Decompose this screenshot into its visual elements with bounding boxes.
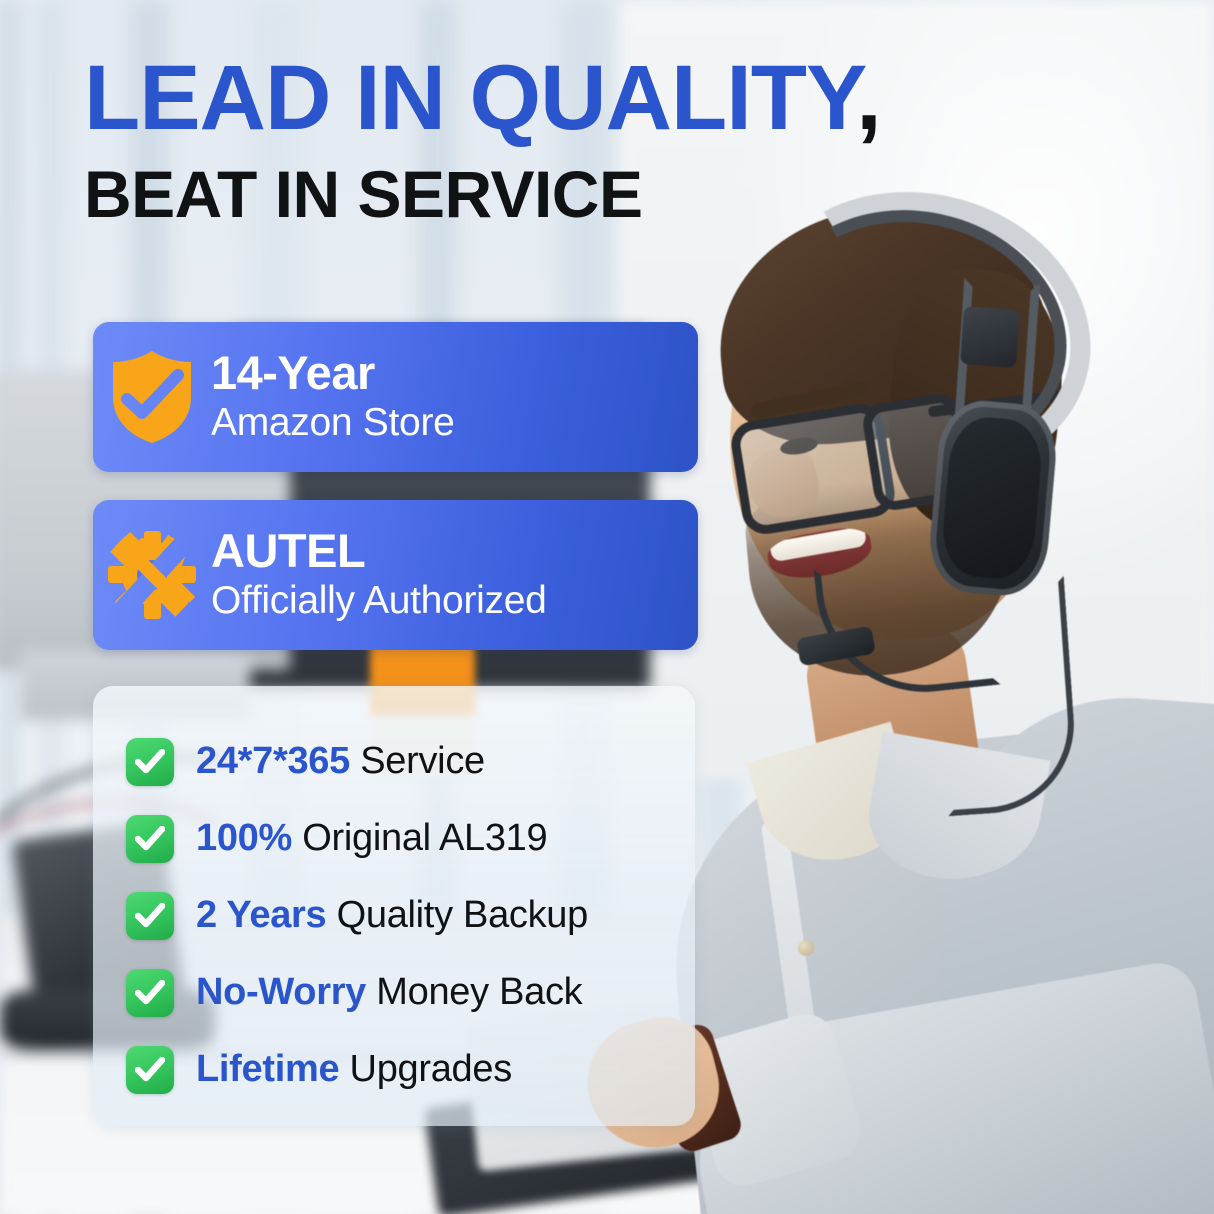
shield-check-icon xyxy=(93,349,211,445)
benefit-highlight: 24*7*365 xyxy=(196,740,350,782)
benefit-item: 100% Original AL319 xyxy=(126,807,695,871)
badge-subtitle: Amazon Store xyxy=(211,402,686,445)
benefit-rest: Upgrades xyxy=(339,1048,512,1090)
badge-card-autel-authorized[interactable]: AUTEL Officially Authorized xyxy=(93,500,698,650)
benefit-label: 100% Original AL319 xyxy=(196,818,547,860)
benefit-item: 2 Years Quality Backup xyxy=(126,884,695,948)
badge-title: 14-Year xyxy=(211,349,686,398)
badge-card-list: 14-Year Amazon Store xyxy=(93,322,698,650)
green-check-icon xyxy=(126,969,174,1017)
headline-line-2: BEAT IN SERVICE xyxy=(84,160,1174,229)
support-agent-photo xyxy=(640,180,1214,1214)
badge-subtitle: Officially Authorized xyxy=(211,580,686,623)
green-check-icon xyxy=(126,1046,174,1094)
benefit-label: No-Worry Money Back xyxy=(196,972,582,1014)
benefit-rest: Service xyxy=(350,740,485,782)
benefit-item: Lifetime Upgrades xyxy=(126,1038,695,1102)
headline-line-1: LEAD IN QUALITY, xyxy=(84,52,1174,146)
badge-text-autel-authorized: AUTEL Officially Authorized xyxy=(211,527,698,623)
gear-wrench-icon xyxy=(93,527,211,623)
benefit-item: No-Worry Money Back xyxy=(126,961,695,1025)
promo-banner: LEAD IN QUALITY, BEAT IN SERVICE 14-Year xyxy=(0,0,1214,1214)
benefit-label: 2 Years Quality Backup xyxy=(196,895,588,937)
badge-text-amazon-store: 14-Year Amazon Store xyxy=(211,349,698,445)
benefit-rest: Original AL319 xyxy=(292,817,547,859)
headline-line-1-text: LEAD IN QUALITY xyxy=(84,47,856,149)
badge-title: AUTEL xyxy=(211,527,686,576)
green-check-icon xyxy=(126,815,174,863)
shirt-button xyxy=(798,940,814,956)
badge-card-amazon-store[interactable]: 14-Year Amazon Store xyxy=(93,322,698,472)
benefit-label: 24*7*365 Service xyxy=(196,741,485,783)
green-check-icon xyxy=(126,738,174,786)
benefit-rest: Quality Backup xyxy=(326,894,588,936)
benefits-panel: 24*7*365 Service 100% Original AL319 2 Y… xyxy=(93,686,695,1126)
benefit-label: Lifetime Upgrades xyxy=(196,1049,512,1091)
green-check-icon xyxy=(126,892,174,940)
benefit-highlight: 100% xyxy=(196,817,292,859)
benefit-highlight: Lifetime xyxy=(196,1048,339,1090)
headset-slider xyxy=(960,306,1020,368)
benefit-item: 24*7*365 Service xyxy=(126,730,695,794)
benefit-highlight: No-Worry xyxy=(196,971,366,1013)
benefit-rest: Money Back xyxy=(366,971,582,1013)
benefit-highlight: 2 Years xyxy=(196,894,326,936)
headline-block: LEAD IN QUALITY, BEAT IN SERVICE xyxy=(84,52,1174,229)
headline-comma: , xyxy=(856,47,881,149)
